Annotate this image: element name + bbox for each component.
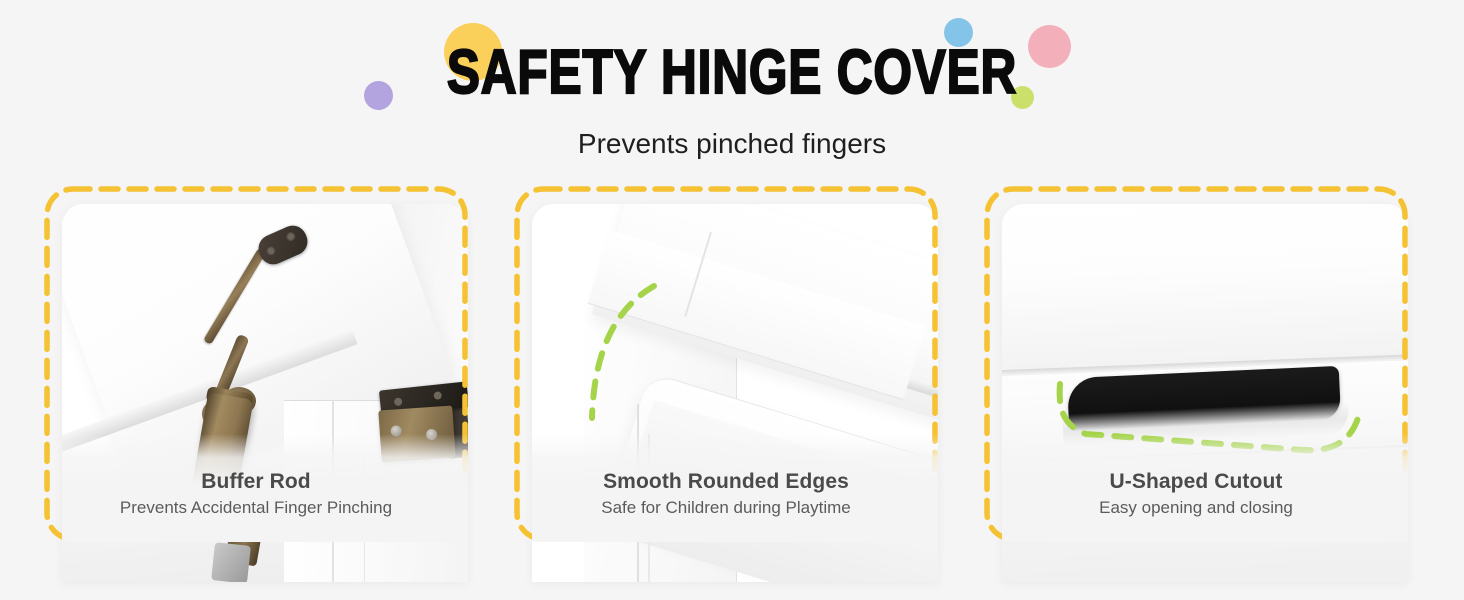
feature-title: Smooth Rounded Edges [514,469,938,495]
feature-panel-u-shaped-cutout: U-Shaped Cutout Easy opening and closing [984,186,1408,542]
feature-subtitle: Easy opening and closing [984,496,1408,520]
caption-block-2: Smooth Rounded Edges Safe for Children d… [514,469,938,520]
page-title: SAFETY HINGE COVER [146,42,1317,104]
feature-title: Buffer Rod [44,469,468,495]
page-subtitle: Prevents pinched fingers [0,127,1464,161]
banner-stage: SAFETY HINGE COVER Prevents pinched fing… [0,0,1464,600]
feature-subtitle: Prevents Accidental Finger Pinching [44,496,468,520]
feature-subtitle: Safe for Children during Playtime [514,496,938,520]
caption-block-1: Buffer Rod Prevents Accidental Finger Pi… [44,469,468,520]
caption-block-3: U-Shaped Cutout Easy opening and closing [984,469,1408,520]
feature-panel-smooth-rounded-edges: Smooth Rounded Edges Safe for Children d… [514,186,938,542]
feature-title: U-Shaped Cutout [984,469,1408,495]
feature-panel-buffer-rod: Buffer Rod Prevents Accidental Finger Pi… [44,186,468,542]
